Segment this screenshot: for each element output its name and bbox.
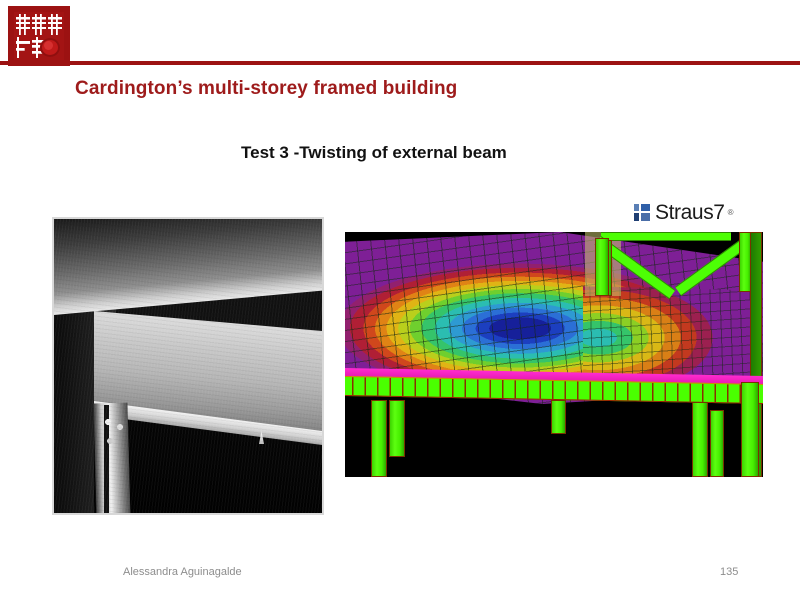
fea-column-left-1 [371,400,387,477]
straus7-square-mark-icon [634,204,652,221]
header-divider [0,61,800,65]
fea-column-middle [551,400,566,434]
photo-beam-top-flange [54,217,324,315]
seal-dot-icon [40,38,60,57]
presentation-slide: Cardington’s multi-storey framed buildin… [0,0,800,600]
straus7-trademark-symbol: ® [728,208,734,217]
fea-column-left-2 [389,400,405,457]
seal-glyph-2 [32,14,46,35]
slide-subtitle: Test 3 -Twisting of external beam [241,143,507,163]
fea-column-right-1 [692,402,708,477]
seal-glyph-3 [48,14,62,35]
seal-glyph-4 [16,37,30,58]
photo-bolt-connection [102,415,128,455]
chinese-seal-logo [8,6,70,66]
fea-contour-image [345,232,763,477]
footer-author: Alessandra Aguinagalde [123,566,242,578]
footer-page-number: 135 [720,566,738,578]
fea-top-chord [601,232,731,241]
seal-glyph-1 [16,14,30,35]
fea-column-far-lower [741,382,759,477]
fea-column-upper-left [595,238,609,296]
straus7-wordmark: Straus7 [655,202,725,223]
beam-photograph [52,217,324,515]
photo-canvas [54,219,322,513]
page-title: Cardington’s multi-storey framed buildin… [75,78,457,100]
fea-canvas [345,232,763,477]
fea-column-right-2 [710,410,724,477]
straus7-logo: Straus7 ® [634,202,733,223]
seal-inner [14,12,64,60]
